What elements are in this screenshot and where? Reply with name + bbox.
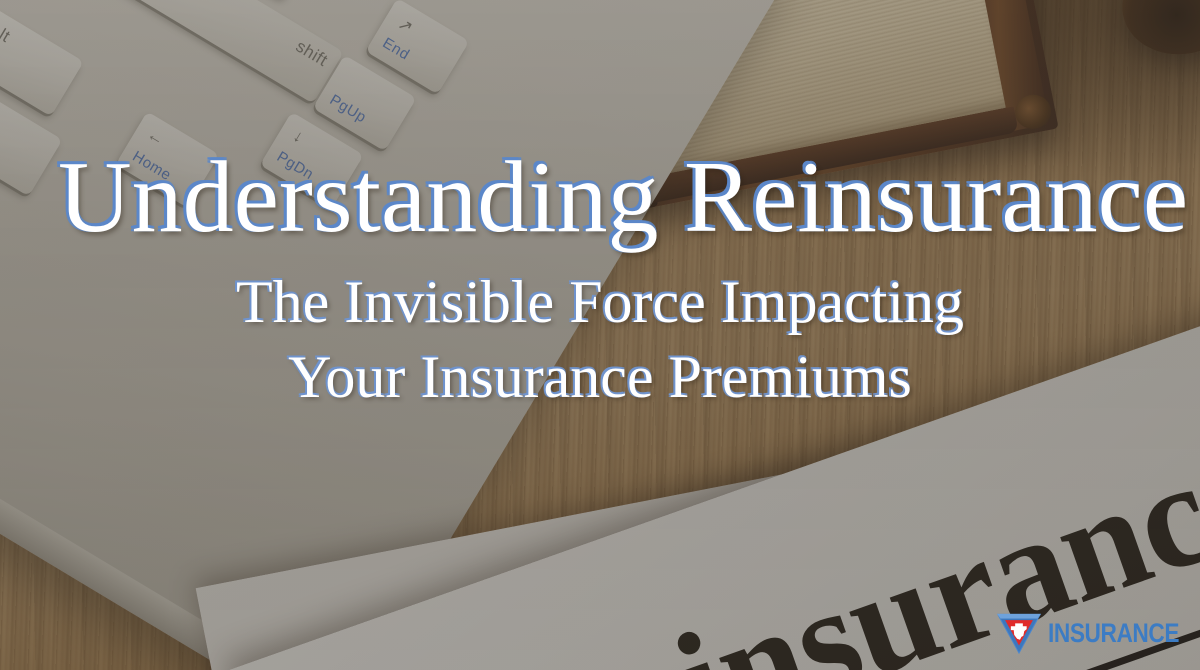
- subtitle-line-2: Your Insurance Premiums: [0, 347, 1200, 407]
- page-title: Understanding Reinsurance: [58, 146, 1188, 250]
- subtitle-line-1: The Invisible Force Impacting: [0, 272, 1200, 332]
- hero-banner: return shift ↗ End PgUp ↓ PgDn ← Home: [0, 0, 1200, 670]
- shield-texas-logo-icon: [995, 610, 1043, 656]
- hero-text-block: Understanding Reinsurance The Invisible …: [0, 0, 1200, 670]
- brand-logo-text: INSURANCE: [1048, 620, 1179, 647]
- brand-logo[interactable]: INSURANCE: [995, 610, 1200, 656]
